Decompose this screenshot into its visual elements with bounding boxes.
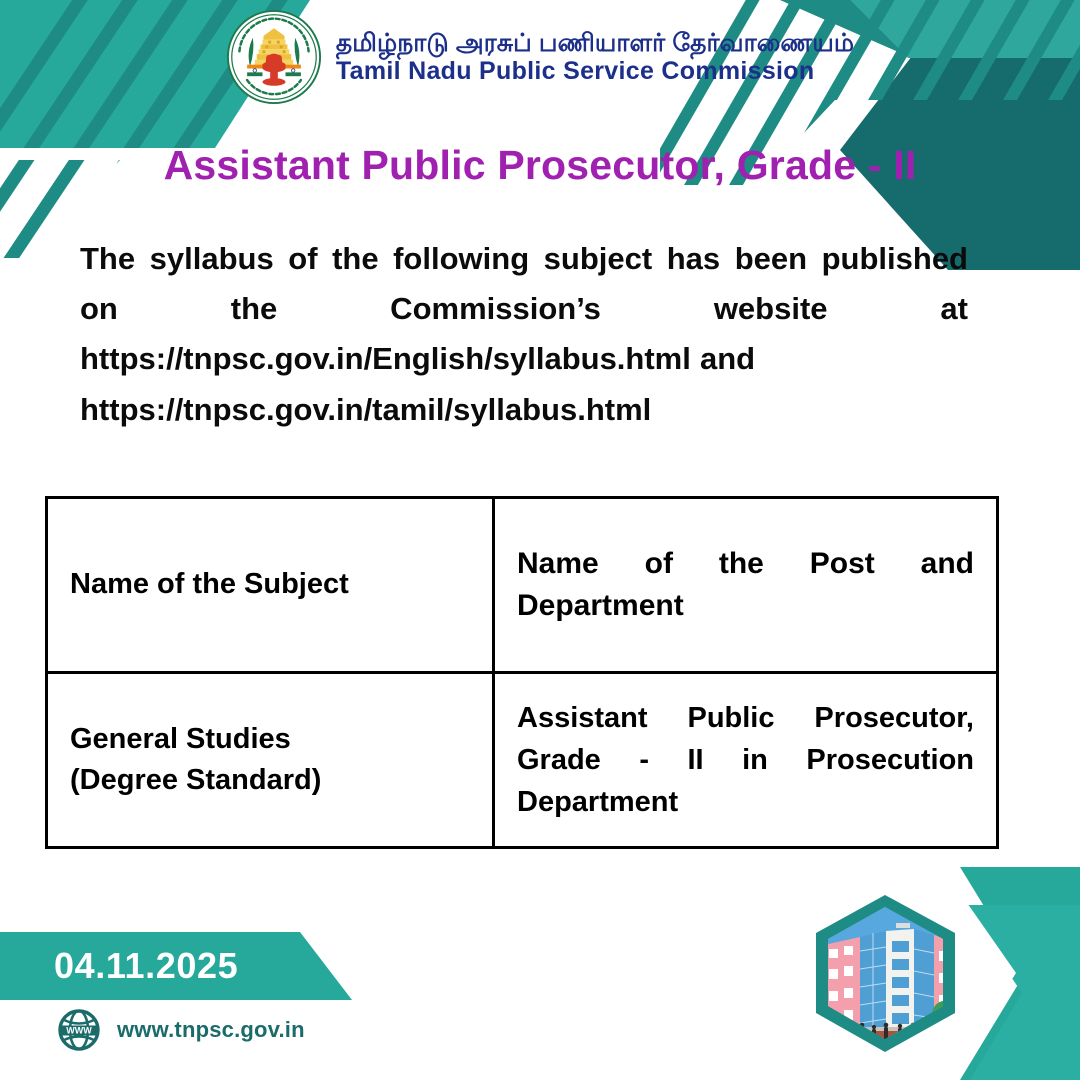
page-title: Assistant Public Prosecutor, Grade - II	[0, 142, 1080, 189]
table-header-post-cell: Name of the Post and Department	[494, 498, 998, 673]
syllabus-table: Name of the Subject Name of the Post and…	[45, 496, 999, 849]
date-banner: 04.11.2025	[0, 932, 352, 1000]
tnpsc-building-photo	[810, 900, 970, 1061]
table-row: General Studies (Degree Standard) Assist…	[47, 673, 998, 848]
subject-line-1: General Studies	[70, 719, 470, 760]
hexagon-frame	[816, 895, 955, 1052]
intro-paragraph: The syllabus of the following subject ha…	[80, 234, 968, 435]
org-name-english: Tamil Nadu Public Service Commission	[336, 57, 854, 85]
table-header-subject-cell: Name of the Subject	[47, 498, 494, 673]
table-cell-post: Assistant Public Prosecutor, Grade - II …	[494, 673, 998, 848]
header-logo-block: தமிழ்நாடு அரசுப் பணியாளர் தேர்வாணையம் Ta…	[0, 4, 1080, 110]
table-header-subject: Name of the Subject	[70, 565, 470, 604]
subject-line-2: (Degree Standard)	[70, 760, 470, 801]
publication-date: 04.11.2025	[54, 932, 238, 1000]
tnpsc-emblem-icon	[226, 9, 322, 105]
table-header-row: Name of the Subject Name of the Post and…	[47, 498, 998, 673]
deco-chevron-gap	[941, 887, 1016, 1067]
globe-www-label: WWW	[66, 1026, 92, 1036]
table-cell-subject: General Studies (Degree Standard)	[47, 673, 494, 848]
intro-line-1: The syllabus of the following subject ha…	[80, 241, 968, 376]
intro-line-2: https://tnpsc.gov.in/tamil/syllabus.html	[80, 385, 968, 435]
poster-canvas: தமிழ்நாடு அரசுப் பணியாளர் தேர்வாணையம் Ta…	[0, 0, 1080, 1080]
website-url[interactable]: www.tnpsc.gov.in	[117, 1017, 305, 1043]
decoration-bottom-right	[810, 845, 1080, 1080]
deco-chevron-inner	[962, 905, 1080, 1080]
org-name-tamil: தமிழ்நாடு அரசுப் பணியாளர் தேர்வாணையம்	[336, 29, 854, 57]
deco-chevron-outer	[960, 867, 1080, 1080]
post-description: Assistant Public Prosecutor, Grade - II …	[517, 697, 974, 823]
table-header-post: Name of the Post and Department	[517, 543, 974, 627]
footer-website[interactable]: WWW www.tnpsc.gov.in	[57, 1008, 305, 1052]
globe-www-icon: WWW	[57, 1008, 101, 1052]
